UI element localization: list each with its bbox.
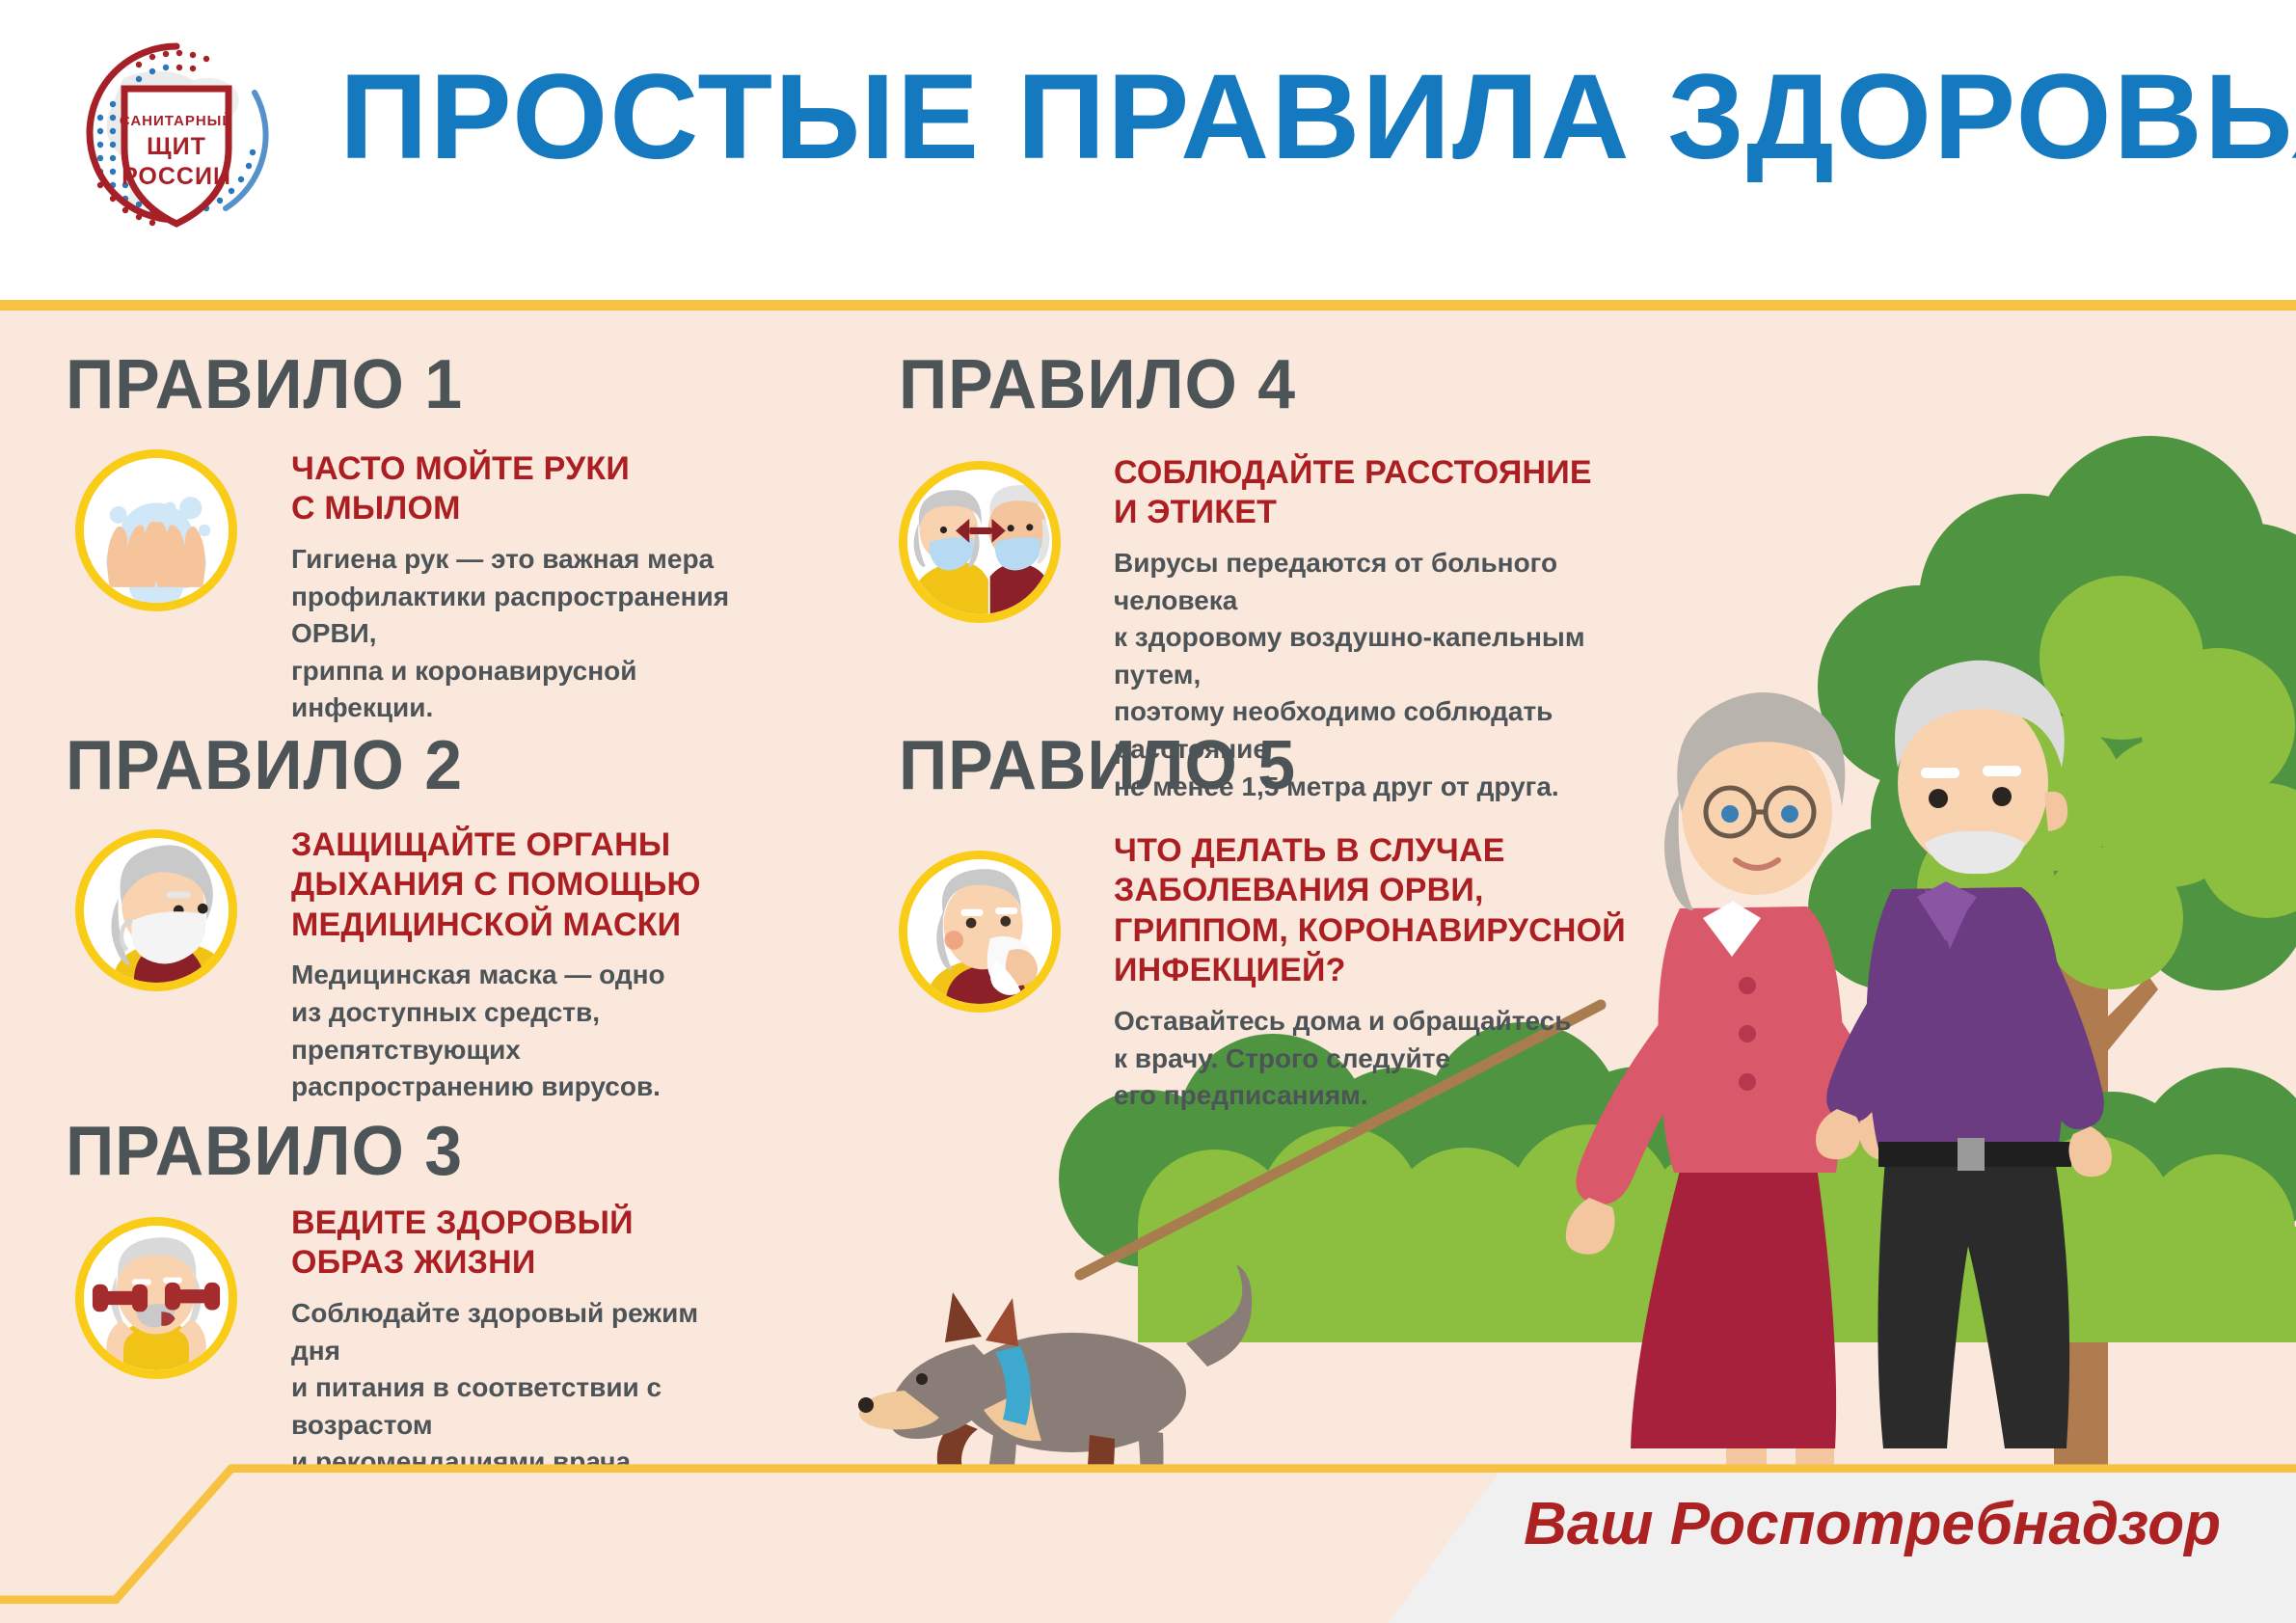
rule-block-3: ПРАВИЛО 3 bbox=[66, 1117, 702, 1186]
rule-block-2: ПРАВИЛО 2 bbox=[66, 731, 702, 800]
dumbbell-exercise-icon bbox=[75, 1217, 237, 1379]
rule-text-2: Медицинская маска — одноиз доступных сре… bbox=[291, 957, 754, 1106]
washing-hands-icon bbox=[75, 449, 237, 611]
rule-number-4: ПРАВИЛО 4 bbox=[899, 350, 1553, 419]
rule-body-3: ВЕДИТЕ ЗДОРОВЫЙОБРАЗ ЖИЗНИ Соблюдайте зд… bbox=[291, 1204, 754, 1481]
header-divider bbox=[0, 300, 2296, 311]
social-distance-icon bbox=[899, 461, 1061, 623]
infographic-poster: САНИТАРНЫЙ ЩИТ РОССИИ ПРОСТЫЕ ПРАВИЛА ЗД… bbox=[0, 0, 2296, 1623]
rule-title-2: ЗАЩИЩАЙТЕ ОРГАНЫДЫХАНИЯ С ПОМОЩЬЮМЕДИЦИН… bbox=[291, 825, 754, 945]
page-title: ПРОСТЫЕ ПРАВИЛА ЗДОРОВЬЯ bbox=[339, 50, 2287, 185]
sanitary-shield-logo: САНИТАРНЫЙ ЩИТ РОССИИ bbox=[66, 25, 287, 247]
logo-line3: РОССИИ bbox=[122, 163, 231, 190]
rule-text-1: Гигиена рук — это важная мерапрофилактик… bbox=[291, 541, 744, 727]
footer-brand: Ваш Роспотребнадзор bbox=[1524, 1490, 2221, 1558]
logo-line2: ЩИТ bbox=[147, 133, 206, 160]
rule-block-5: ПРАВИЛО 5 bbox=[899, 731, 1574, 800]
sneezing-into-tissue-icon bbox=[899, 851, 1061, 1013]
rule-number-2: ПРАВИЛО 2 bbox=[66, 731, 683, 800]
rule-block-1: ПРАВИЛО 1 bbox=[66, 350, 702, 419]
rule-body-2: ЗАЩИЩАЙТЕ ОРГАНЫДЫХАНИЯ С ПОМОЩЬЮМЕДИЦИН… bbox=[291, 825, 754, 1106]
rule-title-1: ЧАСТО МОЙТЕ РУКИС МЫЛОМ bbox=[291, 449, 744, 529]
person-wearing-mask-icon bbox=[75, 829, 237, 991]
rule-text-3: Соблюдайте здоровый режим дняи питания в… bbox=[291, 1295, 754, 1481]
logo-line1: САНИТАРНЫЙ bbox=[120, 112, 233, 129]
rule-title-5: ЧТО ДЕЛАТЬ В СЛУЧАЕЗАБОЛЕВАНИЯ ОРВИ,ГРИП… bbox=[1114, 831, 1634, 991]
rule-title-4: СОБЛЮДАЙТЕ РАССТОЯНИЕИ ЭТИКЕТ bbox=[1114, 453, 1615, 533]
rule-title-3: ВЕДИТЕ ЗДОРОВЫЙОБРАЗ ЖИЗНИ bbox=[291, 1204, 754, 1284]
rule-body-1: ЧАСТО МОЙТЕ РУКИС МЫЛОМ Гигиена рук — эт… bbox=[291, 449, 744, 727]
poster-header: САНИТАРНЫЙ ЩИТ РОССИИ ПРОСТЫЕ ПРАВИЛА ЗД… bbox=[0, 0, 2296, 300]
rule-number-1: ПРАВИЛО 1 bbox=[66, 350, 683, 419]
rule-text-5: Оставайтесь дома и обращайтеськ врачу. С… bbox=[1114, 1003, 1634, 1115]
logo-svg: САНИТАРНЫЙ ЩИТ РОССИИ bbox=[66, 25, 287, 247]
rule-block-4: ПРАВИЛО 4 bbox=[899, 350, 1574, 419]
rule-number-3: ПРАВИЛО 3 bbox=[66, 1117, 683, 1186]
rule-body-5: ЧТО ДЕЛАТЬ В СЛУЧАЕЗАБОЛЕВАНИЯ ОРВИ,ГРИП… bbox=[1114, 831, 1634, 1115]
rule-number-5: ПРАВИЛО 5 bbox=[899, 731, 1553, 800]
